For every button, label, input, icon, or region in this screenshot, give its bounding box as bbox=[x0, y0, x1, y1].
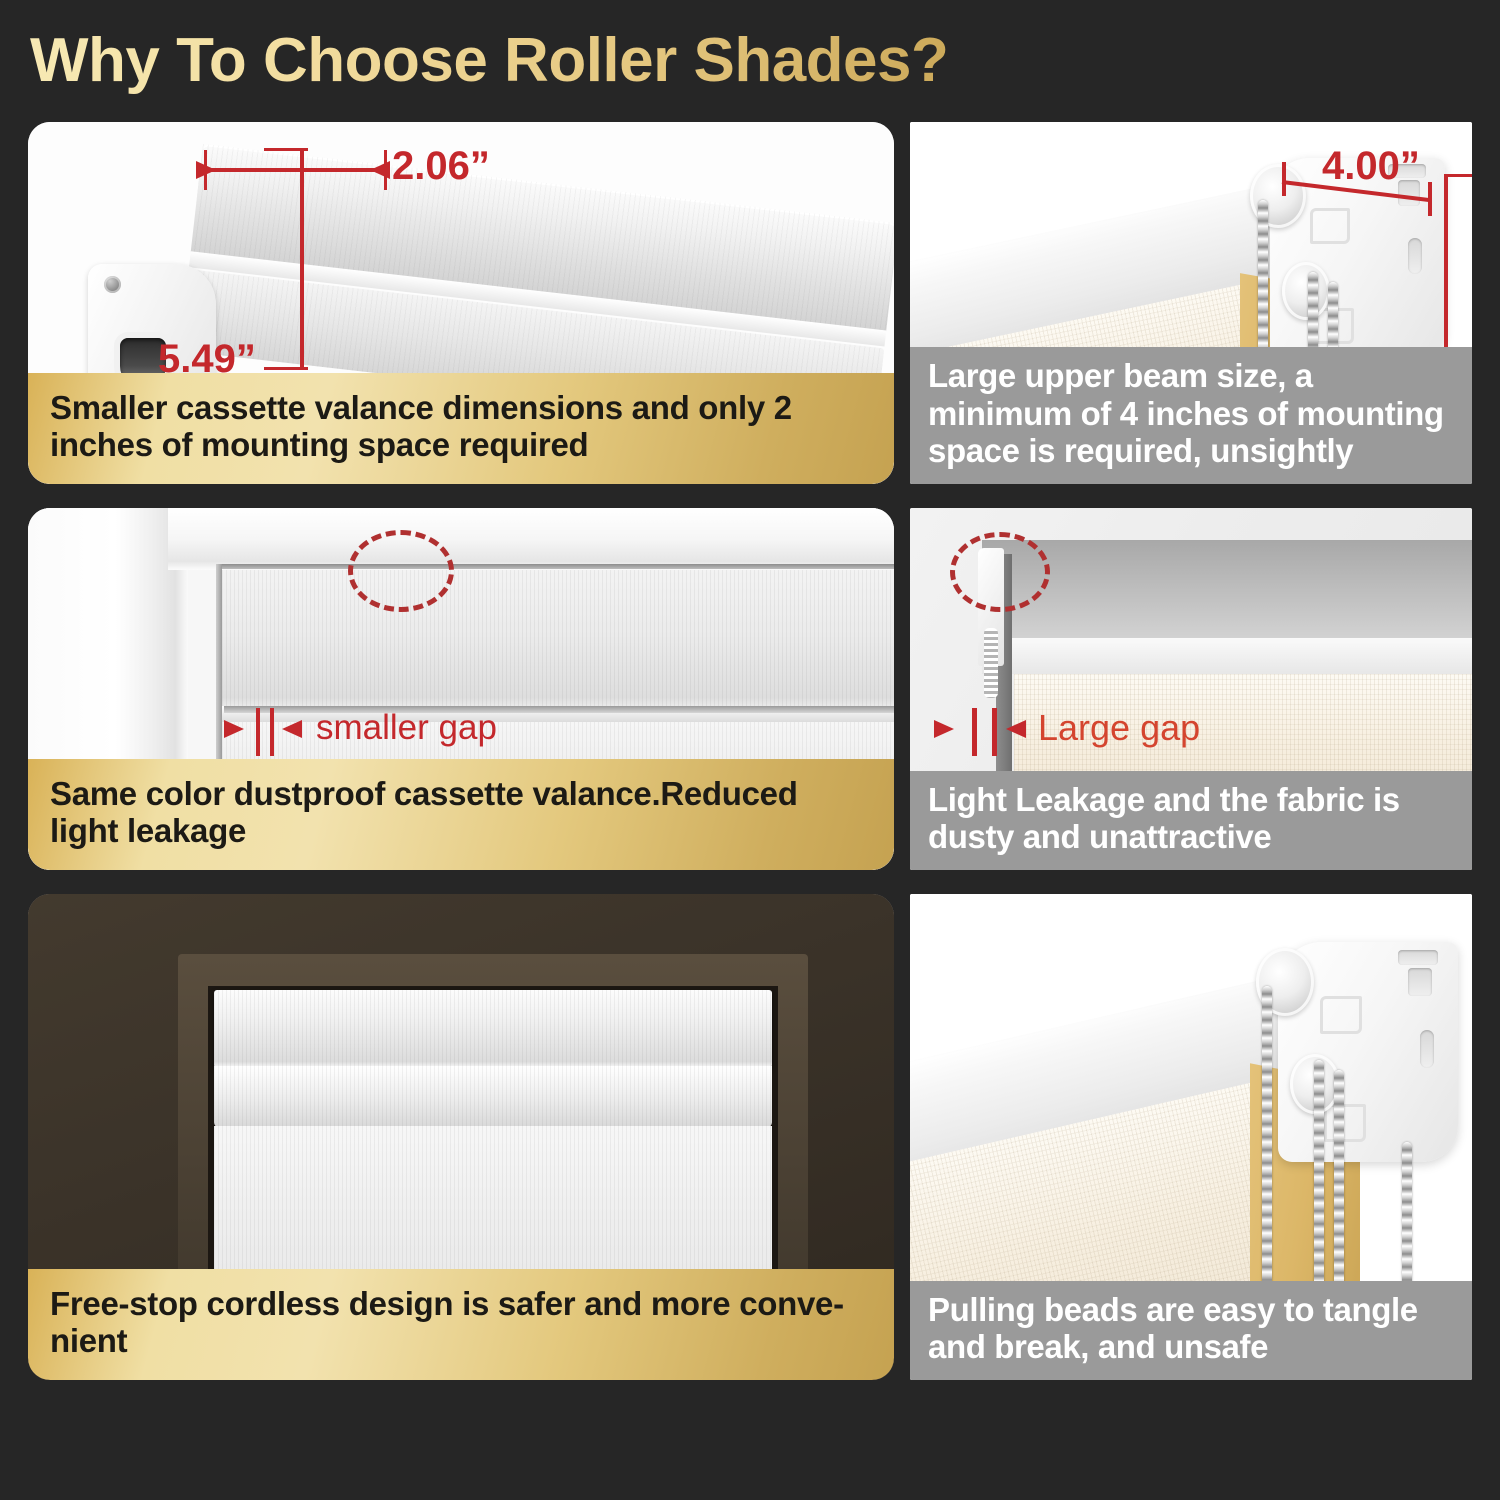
beam-width-label: 4.00” bbox=[1322, 144, 1420, 189]
panel-caption-smaller-gap: Same color dustproof cassette valance.Re… bbox=[28, 759, 894, 870]
gap-arrow-right bbox=[1006, 720, 1026, 738]
page-title: Why To Choose Roller Shades? bbox=[30, 22, 1230, 100]
panel-caption-upper-beam: Large upper beam size, a minimum of 4 in… bbox=[910, 347, 1472, 484]
panel-caption-cordless-design: Free-stop cordless design is safer and m… bbox=[28, 1269, 894, 1380]
gap-arrow-right bbox=[282, 720, 302, 738]
panel-cassette-dimensions: 2.06” 5.49” Smaller cassette valance dim… bbox=[28, 122, 894, 484]
panel-cordless-design: Free-stop cordless design is safer and m… bbox=[28, 894, 894, 1380]
panel-caption-cassette-dimensions: Smaller cassette valance dimensions and … bbox=[28, 373, 894, 484]
gap-arrow-left bbox=[934, 720, 954, 738]
width-dimension-label: 2.06” bbox=[392, 144, 490, 189]
gap-highlight-circle bbox=[950, 532, 1050, 612]
large-gap-label: Large gap bbox=[1038, 707, 1200, 749]
panel-smaller-gap: smaller gap Same color dustproof cassett… bbox=[28, 508, 894, 870]
cassette-valance bbox=[214, 990, 772, 1068]
panel-caption-large-gap: Light Leakage and the fabric is dusty an… bbox=[910, 771, 1472, 870]
smaller-gap-label: smaller gap bbox=[316, 708, 497, 748]
infographic-root: Why To Choose Roller Shades? bbox=[0, 0, 1500, 1500]
gap-arrow-left bbox=[224, 720, 244, 738]
panel-large-gap: Large gap Light Leakage and the fabric i… bbox=[910, 508, 1472, 870]
gap-highlight-circle bbox=[348, 530, 454, 612]
panel-caption-pulling-beads: Pulling beads are easy to tangle and bre… bbox=[910, 1281, 1472, 1380]
panel-pulling-beads: Pulling beads are easy to tangle and bre… bbox=[910, 894, 1472, 1380]
panel-upper-beam-dimensions: 4.00” 4.00” Large upper beam size, a min… bbox=[910, 122, 1472, 484]
